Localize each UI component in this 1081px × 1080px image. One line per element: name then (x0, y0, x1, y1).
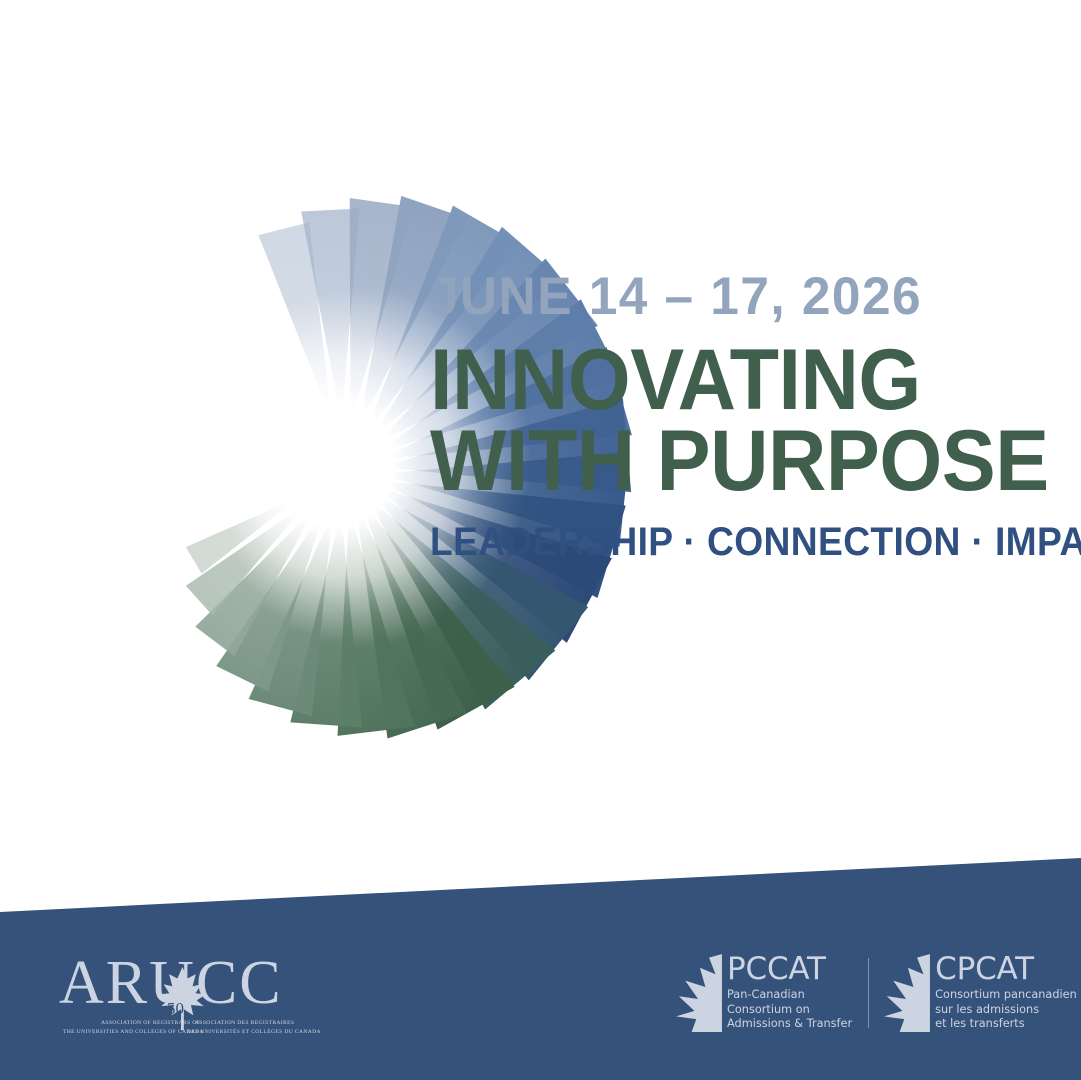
partner-logo-lockup: PCCAT Pan-Canadian Consortium on Admissi… (676, 950, 1026, 1036)
pccat-text: PCCAT Pan-Canadian Consortium on Admissi… (727, 954, 852, 1032)
arucc-tagline-fr-1: ASSOCIATION DES REGISTRAIRES (195, 1020, 294, 1026)
half-maple-leaf-icon (676, 954, 722, 1032)
theme-line-2: WITH PURPOSE (430, 421, 1013, 502)
conference-banner: JUNE 14 – 17, 2026 INNOVATING WITH PURPO… (0, 0, 1081, 1080)
arucc-logo: ARUCC 50 ASSOCIATION OF REGISTRARS OF TH… (55, 945, 320, 1040)
half-maple-leaf-icon (884, 954, 930, 1032)
cpcat-acronym: CPCAT (935, 954, 1077, 985)
pccat-sub-line-3: Admissions & Transfer (727, 1017, 852, 1032)
theme-line-1: INNOVATING (430, 340, 1013, 421)
cpcat-sub-line-3: et les transferts (935, 1017, 1077, 1032)
partner-divider (868, 958, 869, 1028)
arucc-tagline-fr-2: DES UNIVERSITÉS ET COLLÈGES DU CANADA (187, 1027, 320, 1035)
arucc-tagline-en-2: THE UNIVERSITIES AND COLLEGES OF CANADA (63, 1029, 204, 1035)
cpcat-logo: CPCAT Consortium pancanadien sur les adm… (884, 954, 1077, 1032)
cpcat-subtitle: Consortium pancanadien sur les admission… (935, 988, 1077, 1032)
anniversary-badge: 50 (167, 999, 184, 1018)
pccat-sub-line-2: Consortium on (727, 1003, 852, 1018)
cpcat-text: CPCAT Consortium pancanadien sur les adm… (935, 954, 1077, 1032)
page-title: INNOVATING WITH PURPOSE (430, 340, 1013, 502)
pccat-subtitle: Pan-Canadian Consortium on Admissions & … (727, 988, 852, 1032)
arucc-tagline-en-1: ASSOCIATION OF REGISTRARS OF (101, 1020, 200, 1026)
theme-pillars: LEADERSHIP · CONNECTION · IMPACT (430, 522, 1007, 562)
pccat-sub-line-1: Pan-Canadian (727, 988, 852, 1003)
pccat-logo: PCCAT Pan-Canadian Consortium on Admissi… (676, 954, 852, 1032)
event-dates: JUNE 14 – 17, 2026 (430, 270, 1031, 323)
event-text-block: JUNE 14 – 17, 2026 INNOVATING WITH PURPO… (430, 270, 1050, 562)
cpcat-sub-line-2: sur les admissions (935, 1003, 1077, 1018)
cpcat-sub-line-1: Consortium pancanadien (935, 988, 1077, 1003)
pccat-acronym: PCCAT (727, 954, 852, 985)
